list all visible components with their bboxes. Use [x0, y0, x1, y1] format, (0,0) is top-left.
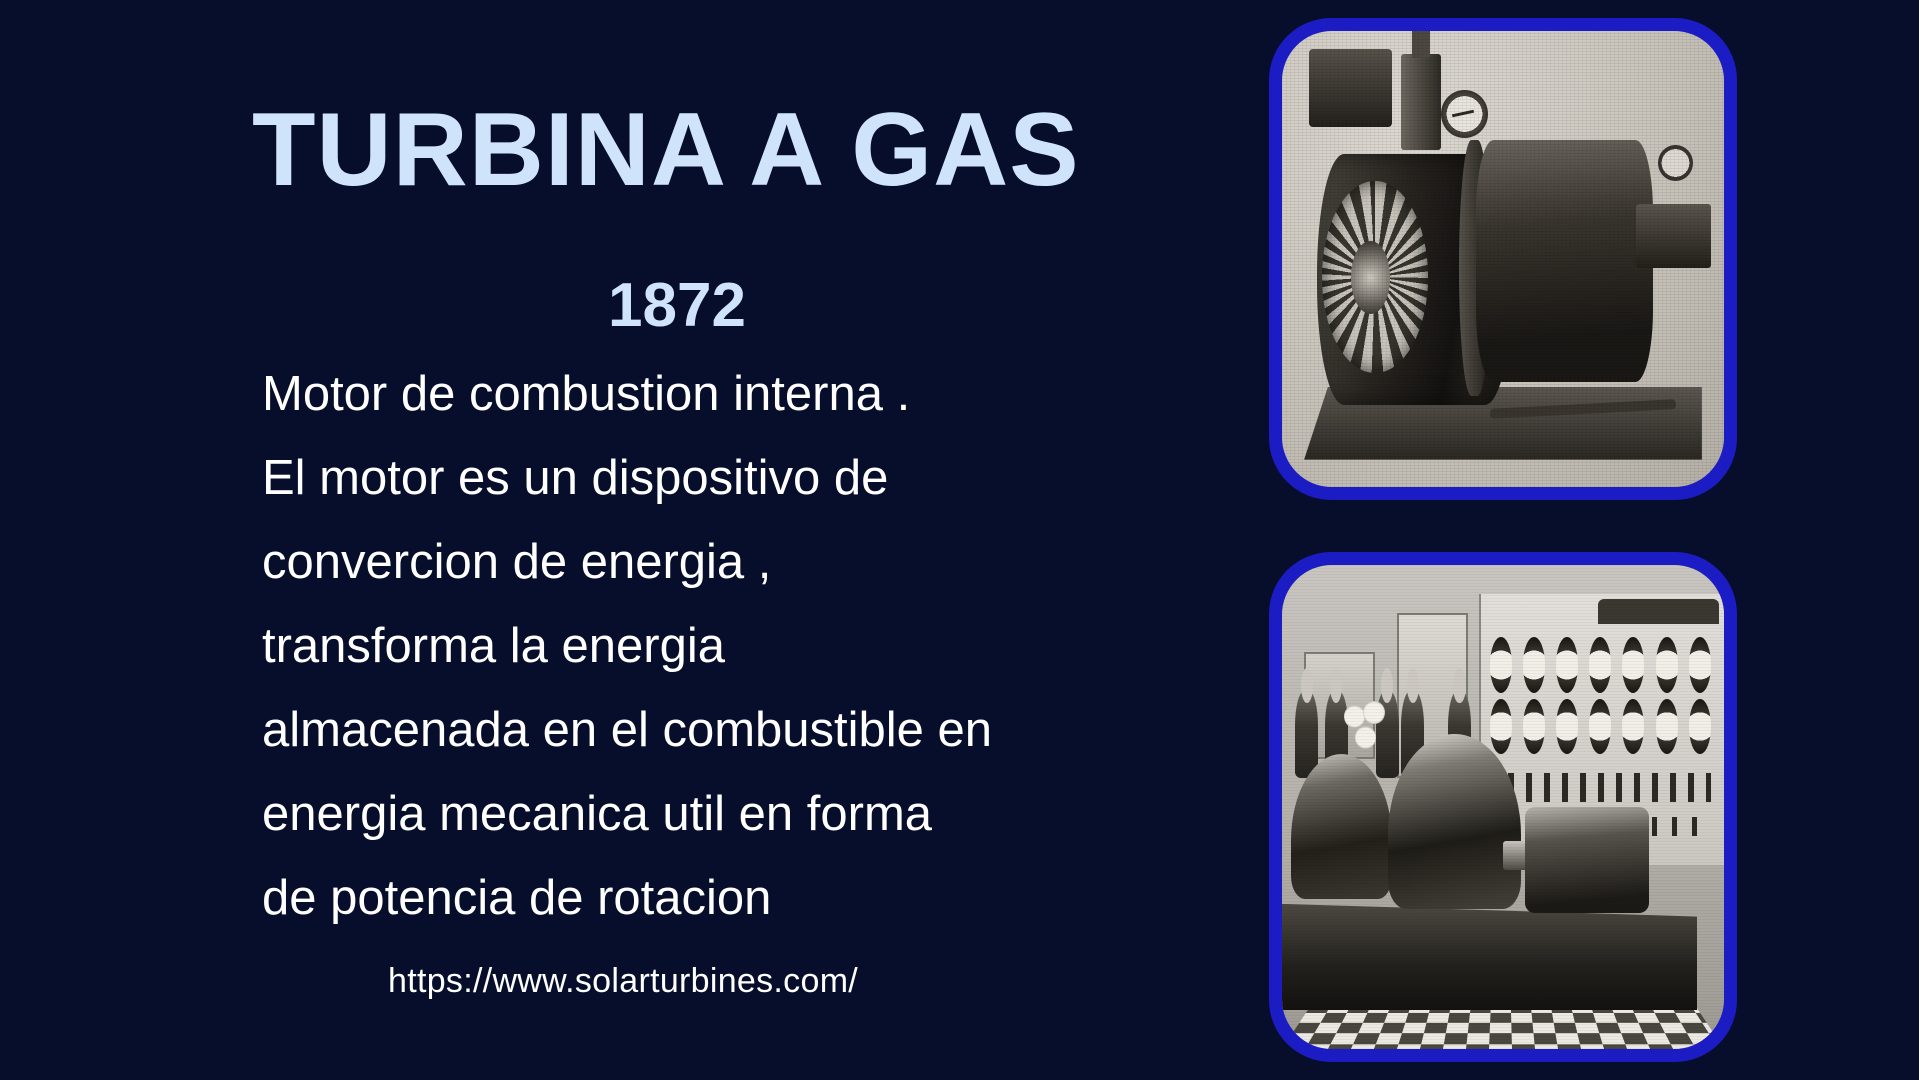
turbine-hall-photo: [1282, 565, 1724, 1049]
image-column: [1255, 0, 1919, 1080]
page-title: TURBINA A GAS: [252, 96, 1080, 205]
body-line: El motor es un dispositivo de: [262, 436, 1192, 520]
body-line: convercion de energia ,: [262, 520, 1192, 604]
body-line: almacenada en el combustible en: [262, 688, 1192, 772]
text-column: TURBINA A GAS 1872 Motor de combustion i…: [0, 0, 1230, 1080]
photo-grain-overlay: [1282, 31, 1724, 487]
source-url-link[interactable]: https://www.solarturbines.com/: [388, 962, 858, 1001]
vintage-gas-turbine-photo: [1282, 31, 1724, 487]
presentation-slide: TURBINA A GAS 1872 Motor de combustion i…: [0, 0, 1919, 1080]
body-line: Motor de combustion interna .: [262, 352, 1192, 436]
year-label: 1872: [608, 275, 746, 337]
vintage-gas-turbine-photo-frame: [1269, 18, 1737, 500]
body-line: energia mecanica util en forma: [262, 772, 1192, 856]
body-line: de potencia de rotacion: [262, 856, 1192, 940]
body-paragraph: Motor de combustion interna . El motor e…: [262, 352, 1192, 940]
body-line: transforma la energia: [262, 604, 1192, 688]
photo-grain-overlay: [1282, 565, 1724, 1049]
turbine-hall-photo-frame: [1269, 552, 1737, 1062]
